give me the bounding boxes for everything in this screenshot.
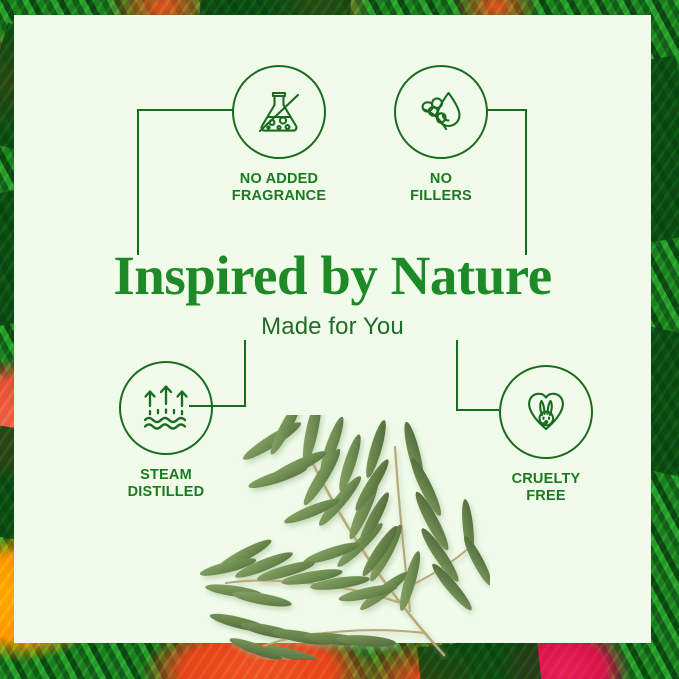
steam-arrows-waves-icon [135, 377, 197, 439]
badge-ring [394, 65, 488, 159]
badge-no-added-fragrance: NO ADDED FRAGRANCE [204, 65, 354, 205]
badge-no-fillers: NO FILLERS [366, 65, 516, 205]
droplet-leaf-icon [410, 81, 472, 143]
headline-block: Inspired by Nature Made for You [14, 248, 651, 341]
tea-tree-branch-illustration [200, 415, 490, 660]
badge-steam-distilled: STEAM DISTILLED [91, 361, 241, 501]
badge-label: NO ADDED FRAGRANCE [204, 171, 354, 205]
badge-label: NO FILLERS [366, 171, 516, 205]
page-subtitle: Made for You [14, 313, 651, 341]
badge-label: STEAM DISTILLED [91, 467, 241, 501]
page-title: Inspired by Nature [14, 248, 651, 303]
badge-ring [499, 365, 593, 459]
badge-ring [119, 361, 213, 455]
flask-no-fragrance-icon [248, 81, 310, 143]
rabbit-heart-icon [515, 381, 577, 443]
badge-label: CRUELTY FREE [471, 471, 621, 505]
content-card: NO ADDED FRAGRANCE [14, 15, 651, 643]
infographic-banner: NO ADDED FRAGRANCE [0, 0, 679, 679]
badge-ring [232, 65, 326, 159]
badge-cruelty-free: CRUELTY FREE [471, 365, 621, 505]
